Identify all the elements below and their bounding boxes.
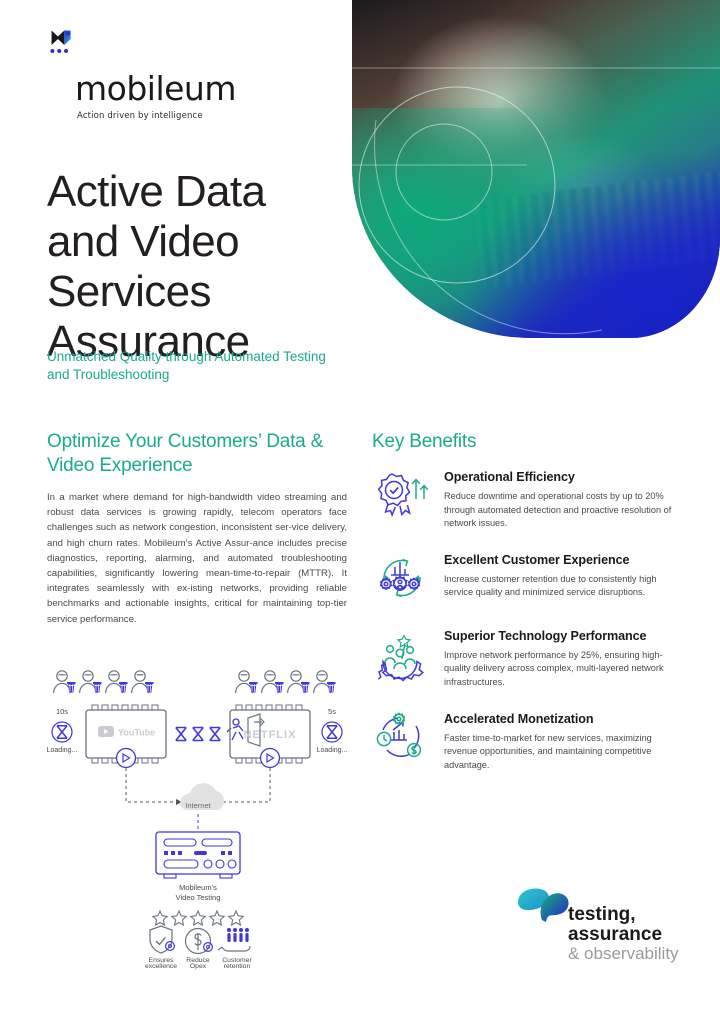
netflix-label: NETFLIX: [244, 729, 297, 741]
benefit-title: Operational Efficiency: [444, 470, 677, 485]
tao-line2: assurance: [568, 924, 662, 945]
left-heading: Optimize Your Customers’ Data & Video Ex…: [47, 430, 347, 478]
server-icon: [156, 832, 240, 878]
badge-check-growth-arrows-icon: [372, 466, 432, 524]
right-loading-label: Loading...: [317, 747, 348, 754]
brochure-page: mobileum Action driven by intelligence A…: [0, 0, 720, 1018]
logo-wordmark: mobileum: [75, 69, 277, 108]
benefit-item: Accelerated Monetization Faster time-to-…: [372, 708, 677, 773]
left-users-group: [54, 671, 154, 693]
brand-logo: mobileum Action driven by intelligence: [47, 28, 277, 121]
internet-cloud: Internet: [180, 783, 224, 810]
left-play-icon: [117, 749, 136, 768]
tao-line1: testing,: [568, 904, 636, 925]
benefits-column: Key Benefits Operational Efficiency Redu…: [372, 430, 677, 790]
clock-chart-dollar-gear-cycle-icon: [372, 708, 432, 766]
cloud-label: Internet: [185, 801, 211, 810]
benefit-text: Improve network performance by 25%, ensu…: [444, 649, 677, 690]
left-column: Optimize Your Customers’ Data & Video Ex…: [47, 430, 347, 627]
benefit-text: Reduce downtime and operational costs by…: [444, 490, 677, 531]
benefits-heading: Key Benefits: [372, 430, 677, 454]
benefit-text: Faster time-to-market for new services, …: [444, 732, 677, 773]
outcome-ensures-excellence: Ensures: [149, 926, 175, 964]
logo-tagline: Action driven by intelligence: [77, 111, 277, 121]
right-users-group: [236, 671, 336, 693]
gears-user-chart-cycle-icon: [372, 549, 432, 607]
server-label-line1: Mobileum’s: [179, 883, 217, 892]
hero-image: [352, 0, 720, 338]
right-duration-label: 5s: [328, 707, 336, 716]
testing-assurance-observability-logo: testing, assurance & observability: [512, 878, 684, 970]
benefit-title: Accelerated Monetization: [444, 712, 677, 727]
youtube-screen: YouTube: [86, 705, 166, 768]
benefit-title: Excellent Customer Experience: [444, 553, 677, 568]
tao-line3: & observability: [568, 944, 679, 963]
hero-arc-decoration: [352, 0, 720, 338]
youtube-label: YouTube: [118, 728, 155, 738]
benefit-item: Superior Technology Performance Improve …: [372, 625, 677, 690]
outcome-customer-retention: Customer: [218, 928, 252, 964]
left-paragraph: In a market where demand for high-bandwi…: [47, 490, 347, 627]
outcome-reduce-opex: Reduce: [186, 929, 213, 965]
mobileum-m-icon: [49, 28, 83, 62]
benefit-text: Increase customer retention due to consi…: [444, 573, 677, 600]
left-duration-label: 10s: [56, 707, 68, 716]
left-loading-label: Loading...: [47, 747, 78, 754]
svg-text:Customer: Customer: [222, 957, 252, 964]
rating-stars: [153, 911, 243, 925]
server-label-line2: Video Testing: [176, 893, 221, 902]
benefit-item: Operational Efficiency Reduce downtime a…: [372, 466, 677, 531]
benefit-title: Superior Technology Performance: [444, 629, 677, 644]
page-title: Active Data and Video Services Assurance: [47, 167, 347, 367]
video-testing-diagram: 10s Loading... YouTube: [40, 662, 356, 967]
svg-text:Ensures: Ensures: [149, 957, 175, 964]
svg-text:Reduce: Reduce: [186, 957, 210, 964]
right-play-icon: [261, 749, 280, 768]
people-gear-star-icon: [372, 625, 432, 683]
page-subtitle: Unmatched Quality through Automated Test…: [47, 348, 347, 384]
benefit-item: Excellent Customer Experience Increase c…: [372, 549, 677, 607]
